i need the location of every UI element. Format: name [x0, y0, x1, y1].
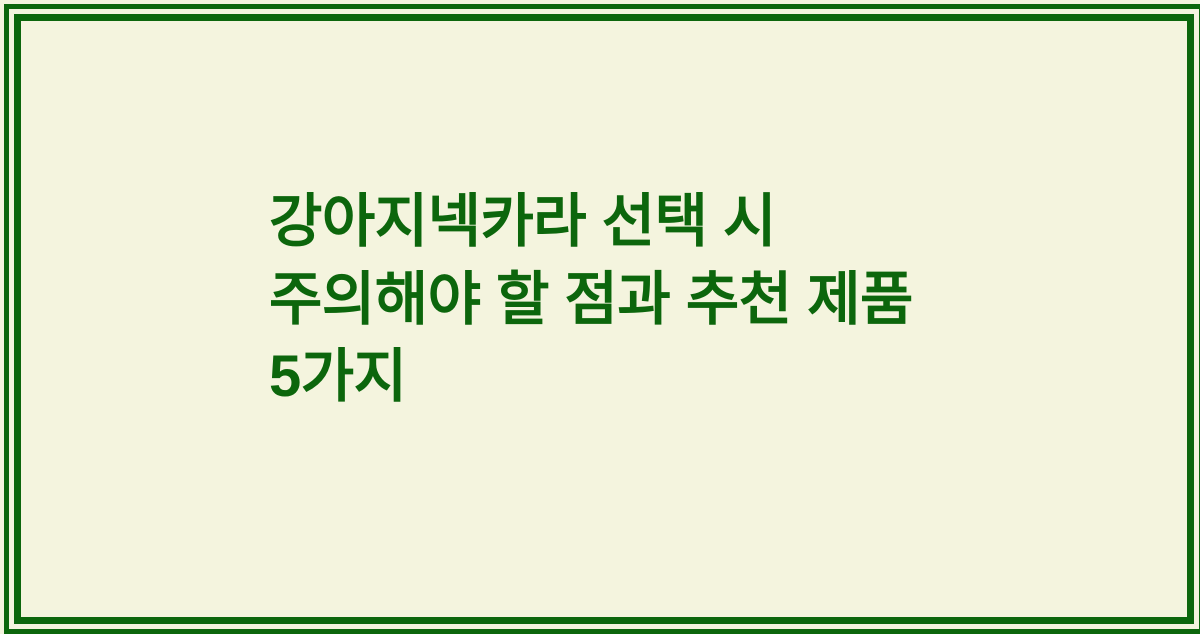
- page-frame: 강아지넥카라 선택 시 주의해야 할 점과 추천 제품 5가지: [0, 0, 1200, 630]
- title-block: 강아지넥카라 선택 시 주의해야 할 점과 추천 제품 5가지: [269, 183, 941, 416]
- page-title: 강아지넥카라 선택 시 주의해야 할 점과 추천 제품 5가지: [269, 183, 941, 416]
- banner-inner-border: 강아지넥카라 선택 시 주의해야 할 점과 추천 제품 5가지: [14, 14, 1194, 624]
- banner-outer-border: 강아지넥카라 선택 시 주의해야 할 점과 추천 제품 5가지: [4, 4, 1200, 634]
